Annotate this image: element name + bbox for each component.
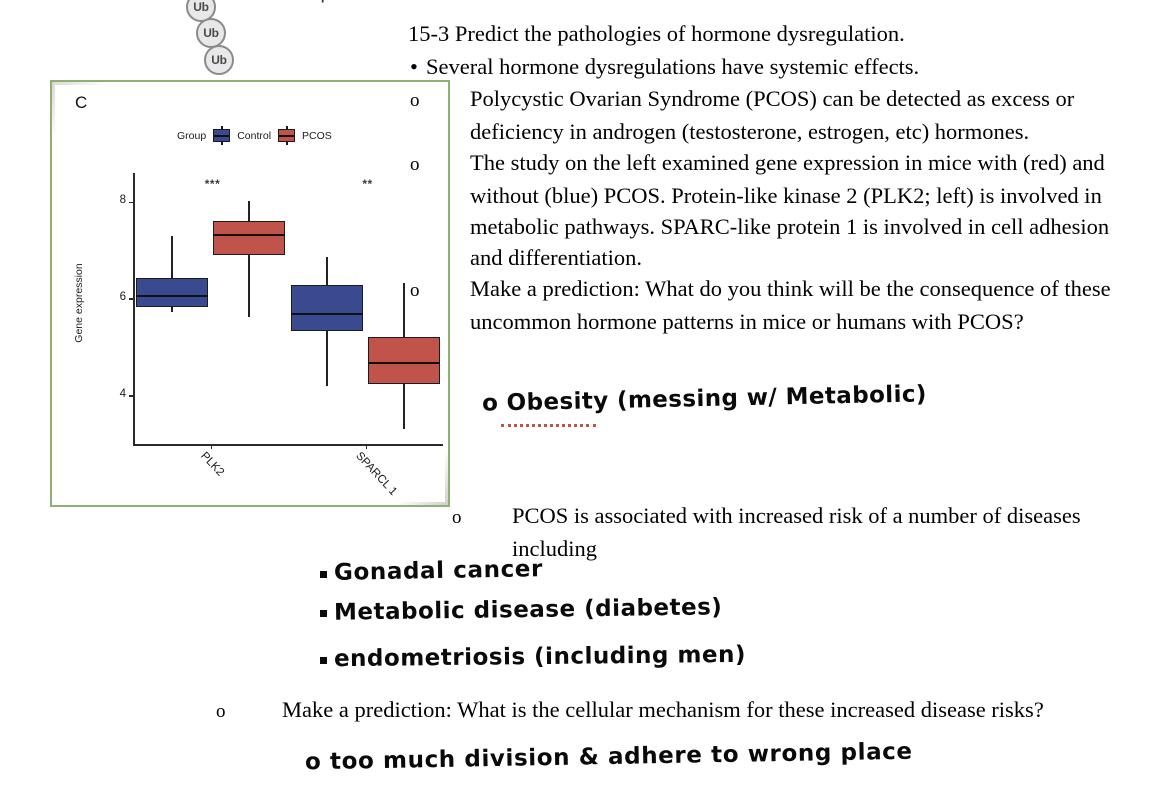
bullet-pcos-risk-label: PCOS is associated with increased risk o… <box>512 503 1081 561</box>
bullet-pcos-definition-label: Polycystic Ovarian Syndrome (PCOS) can b… <box>470 86 1074 144</box>
ubiquitin-icon: Ub <box>196 18 226 48</box>
bullet-study-description: oThe study on the left examined gene exp… <box>408 147 1122 273</box>
box-median-line <box>136 295 208 297</box>
bullet-systemic-effects: • Several hormone dysregulations have sy… <box>408 51 1122 82</box>
plot-area: Gene expression 468 ***** PLK2SPARCL 1 <box>55 85 445 502</box>
page-heading: 15-3 Predict the pathologies of hormone … <box>408 18 1122 49</box>
text-block-risk: oPCOS is associated with increased risk … <box>240 500 1120 564</box>
x-axis-tick-label: SPARCL 1 <box>353 450 399 498</box>
x-axis-tick-mark <box>366 444 367 449</box>
box-whisker <box>248 201 250 317</box>
y-axis-tick-mark <box>129 395 133 397</box>
box-median-line <box>213 234 285 236</box>
significance-marker: *** <box>205 177 221 191</box>
x-axis-tick-label: PLK2 <box>198 450 226 479</box>
bullet-o-icon: o <box>482 502 512 533</box>
handwritten-square-bullet <box>320 657 327 664</box>
bullet-pcos-risk: oPCOS is associated with increased risk … <box>240 500 1120 564</box>
handwritten-answer-obesity: o Obesity (messing w/ Metabolic) <box>482 381 927 416</box>
handwritten-answer-metabolic: Metabolic disease (diabetes) <box>334 594 723 625</box>
bullet-prediction-question: oMake a prediction: What do you think wi… <box>408 273 1122 337</box>
bullet-o-icon: o <box>440 85 470 116</box>
y-axis-tick-label: 4 <box>120 388 126 400</box>
y-axis-line <box>133 173 135 445</box>
box-control-plk2 <box>136 278 208 306</box>
handwritten-answer-gonadal: Gonadal cancer <box>334 556 543 586</box>
x-axis-tick-mark <box>211 444 212 449</box>
handwritten-square-bullet <box>320 610 327 617</box>
handwritten-square-bullet <box>320 571 327 578</box>
figure-inner: C Group Control PCOS Gene expression 468… <box>55 85 445 502</box>
bullet-pcos-definition: oPolycystic Ovarian Syndrome (PCOS) can … <box>408 83 1122 147</box>
box-control-sparcl1 <box>291 285 363 331</box>
bullet-o-icon: o <box>440 275 470 306</box>
bullet-dot-icon: • <box>410 51 418 82</box>
y-axis-tick-label: 8 <box>120 194 126 206</box>
x-axis-line <box>133 444 443 446</box>
peptide-label: Peptide <box>305 0 352 3</box>
bullet-mechanism-question: oMake a prediction: What is the cellular… <box>240 694 1120 727</box>
handwritten-underline <box>501 424 596 430</box>
y-axis-title: Gene expression <box>73 243 85 363</box>
bullet-mechanism-question-label: Make a prediction: What is the cellular … <box>282 697 1044 722</box>
bullet-study-description-label: The study on the left examined gene expr… <box>470 150 1109 270</box>
figure-frame: C Group Control PCOS Gene expression 468… <box>50 80 450 507</box>
diagram-remnant: Ub Ub Ub Peptide <box>0 0 430 78</box>
box-pcos-plk2 <box>213 221 285 255</box>
bullet-o-icon: o <box>440 149 470 180</box>
handwritten-answer-division: o too much division & adhere to wrong pl… <box>305 739 913 776</box>
y-axis-tick-mark <box>129 202 133 204</box>
box-median-line <box>291 313 363 315</box>
significance-marker: ** <box>362 177 372 191</box>
handwritten-answer-endometriosis: endometriosis (including men) <box>334 642 746 672</box>
y-axis-tick-mark <box>129 298 133 300</box>
text-column: 15-3 Predict the pathologies of hormone … <box>408 18 1122 337</box>
bullet-o-icon: o <box>252 696 282 727</box>
y-axis-tick-label: 6 <box>120 291 126 303</box>
text-block-mechanism: oMake a prediction: What is the cellular… <box>240 694 1120 727</box>
ubiquitin-icon: Ub <box>204 45 234 75</box>
bullet-prediction-question-label: Make a prediction: What do you think wil… <box>470 276 1111 334</box>
bullet-systemic-effects-label: Several hormone dysregulations have syst… <box>426 54 919 79</box>
box-median-line <box>368 362 440 364</box>
box-pcos-sparcl1 <box>368 337 440 384</box>
